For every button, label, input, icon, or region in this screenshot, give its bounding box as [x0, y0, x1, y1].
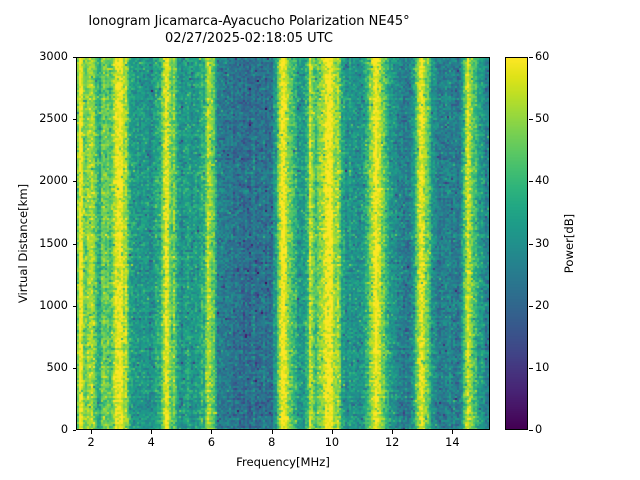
colorbar-tick-mark — [529, 368, 533, 369]
x-tick-mark — [272, 430, 273, 434]
colorbar-label: Power[dB] — [562, 214, 576, 273]
x-tick-mark — [151, 430, 152, 434]
colorbar-tick-label: 10 — [535, 361, 549, 374]
colorbar-tick-label: 20 — [535, 299, 549, 312]
x-tick-mark — [392, 430, 393, 434]
y-tick-mark — [73, 368, 77, 369]
y-tick-label: 500 — [22, 361, 68, 374]
y-tick-mark — [73, 57, 77, 58]
plot-axes — [76, 57, 490, 430]
colorbar-tick-mark — [529, 306, 533, 307]
colorbar-tick-label: 60 — [535, 50, 549, 63]
colorbar-tick-label: 40 — [535, 174, 549, 187]
colorbar-tick-label: 50 — [535, 112, 549, 125]
chart-title-line-1: Ionogram Jicamarca-Ayacucho Polarization… — [0, 14, 498, 31]
x-tick-label: 6 — [191, 436, 231, 449]
colorbar-tick-label: 0 — [535, 423, 542, 436]
x-tick-label: 12 — [372, 436, 412, 449]
colorbar-tick-mark — [529, 181, 533, 182]
y-tick-mark — [73, 306, 77, 307]
y-tick-label: 0 — [22, 423, 68, 436]
y-tick-label: 2500 — [22, 112, 68, 125]
x-tick-label: 8 — [252, 436, 292, 449]
y-tick-label: 3000 — [22, 50, 68, 63]
colorbar-tick-mark — [529, 119, 533, 120]
colorbar-tick-mark — [529, 244, 533, 245]
x-tick-mark — [452, 430, 453, 434]
colorbar-tick-mark — [529, 57, 533, 58]
y-axis-label: Virtual Distance[km] — [16, 184, 30, 303]
chart-title-line-2: 02/27/2025-02:18:05 UTC — [0, 31, 498, 48]
colorbar-tick-label: 30 — [535, 237, 549, 250]
figure-canvas: Ionogram Jicamarca-Ayacucho Polarization… — [0, 0, 640, 480]
chart-title: Ionogram Jicamarca-Ayacucho Polarization… — [0, 14, 498, 47]
colorbar — [505, 57, 528, 430]
x-tick-label: 14 — [432, 436, 472, 449]
x-tick-label: 10 — [312, 436, 352, 449]
y-tick-mark — [73, 430, 77, 431]
y-tick-mark — [73, 244, 77, 245]
x-tick-label: 4 — [131, 436, 171, 449]
y-tick-mark — [73, 119, 77, 120]
y-tick-mark — [73, 181, 77, 182]
x-tick-mark — [332, 430, 333, 434]
x-tick-mark — [211, 430, 212, 434]
x-tick-mark — [91, 430, 92, 434]
colorbar-gradient — [506, 58, 527, 429]
colorbar-tick-mark — [529, 430, 533, 431]
ionogram-heatmap — [77, 58, 489, 429]
x-tick-label: 2 — [71, 436, 111, 449]
x-axis-label: Frequency[MHz] — [76, 455, 490, 469]
